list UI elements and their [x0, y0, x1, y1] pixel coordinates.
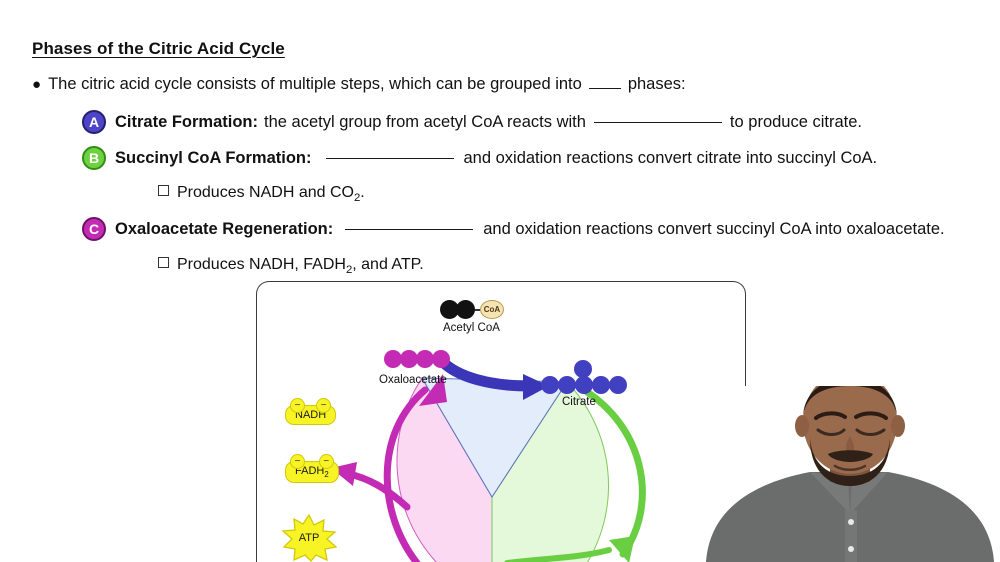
label-oxaloacetate: Oxaloacetate: [379, 374, 447, 386]
succinyl-coa-arrowhead: [609, 536, 635, 562]
carbon-ball: [575, 376, 593, 394]
shirt-button: [848, 546, 854, 552]
carbon-ball: [609, 376, 627, 394]
presenter-figure: [698, 386, 1000, 562]
coa-group-icon: CoA: [480, 300, 504, 319]
phase-b-text-after: and oxidation reactions convert citrate …: [464, 149, 878, 168]
charge-minus-icon: −: [290, 398, 305, 413]
intro-bullet: ● The citric acid cycle consists of mult…: [32, 75, 686, 94]
token-nadh: − − NADH: [285, 405, 336, 425]
phase-badge-b: B: [82, 146, 106, 170]
shirt-button: [848, 519, 854, 525]
atp-star: ATP: [281, 514, 337, 562]
intro-text-before: The citric acid cycle consists of multip…: [48, 75, 582, 94]
atp-label: ATP: [281, 514, 337, 562]
nadh-pill: − − NADH: [285, 405, 336, 425]
phase-title-a: Citrate Formation:: [115, 113, 258, 132]
carbon-ball: [558, 376, 576, 394]
token-fadh2: − − FADH2: [285, 461, 339, 483]
fadh2-pill: − − FADH2: [285, 461, 339, 483]
phase-a-text-after: to produce citrate.: [730, 113, 862, 132]
token-atp: ATP: [281, 514, 337, 562]
phase-title-b: Succinyl CoA Formation:: [115, 149, 312, 168]
sub-bullet-nadh-fadh2-atp: Produces NADH, FADH2, and ATP.: [158, 256, 424, 276]
molecule-acetyl-coa: CoA: [440, 300, 504, 319]
slide-canvas: Phases of the Citric Acid Cycle ● The ci…: [0, 0, 1000, 562]
square-bullet-icon: [158, 185, 169, 196]
phase-c-text-after: and oxidation reactions convert succinyl…: [483, 220, 944, 239]
phase-row-c: C Oxaloacetate Regeneration: and oxidati…: [82, 217, 945, 241]
ear-left: [795, 415, 809, 437]
carbon-ball: [432, 350, 450, 368]
phase-b-blank-field[interactable]: [326, 158, 454, 159]
bullet-dot-icon: ●: [32, 77, 41, 92]
phase-a-text-before: the acetyl group from acetyl CoA reacts …: [264, 113, 586, 132]
carbon-ball: [456, 300, 475, 319]
carbon-ball: [541, 376, 559, 394]
square-bullet-icon: [158, 257, 169, 268]
sub-bullet-text-2: Produces NADH, FADH2, and ATP.: [177, 256, 424, 276]
phase-row-b: B Succinyl CoA Formation: and oxidation …: [82, 146, 877, 170]
intro-blank-field[interactable]: [589, 88, 621, 89]
charge-minus-icon: −: [290, 454, 305, 469]
phase-c-blank-field[interactable]: [345, 229, 473, 230]
sub-bullet-nadh-co2: Produces NADH and CO2.: [158, 184, 365, 204]
charge-minus-icon: −: [319, 454, 334, 469]
phase-a-blank-field[interactable]: [594, 122, 722, 123]
phase-title-c: Oxaloacetate Regeneration:: [115, 220, 333, 239]
citric-acid-cycle-diagram: CoA Acetyl CoA Oxaloacetate Citrate − −: [256, 281, 746, 562]
label-citrate: Citrate: [562, 396, 596, 408]
charge-minus-icon: −: [316, 398, 331, 413]
sub-bullet-text-1: Produces NADH and CO2.: [177, 184, 365, 204]
carbon-ball: [592, 376, 610, 394]
label-acetyl-coa: Acetyl CoA: [443, 322, 500, 334]
phase-badge-a: A: [82, 110, 106, 134]
phase-badge-c: C: [82, 217, 106, 241]
presenter-video: [698, 386, 1000, 562]
molecule-oxaloacetate: [384, 350, 450, 368]
page-title: Phases of the Citric Acid Cycle: [32, 39, 285, 59]
intro-text-after: phases:: [628, 75, 686, 94]
ear-right: [891, 415, 905, 437]
shirt-placket: [845, 510, 857, 562]
phase-row-a: A Citrate Formation: the acetyl group fr…: [82, 110, 862, 134]
